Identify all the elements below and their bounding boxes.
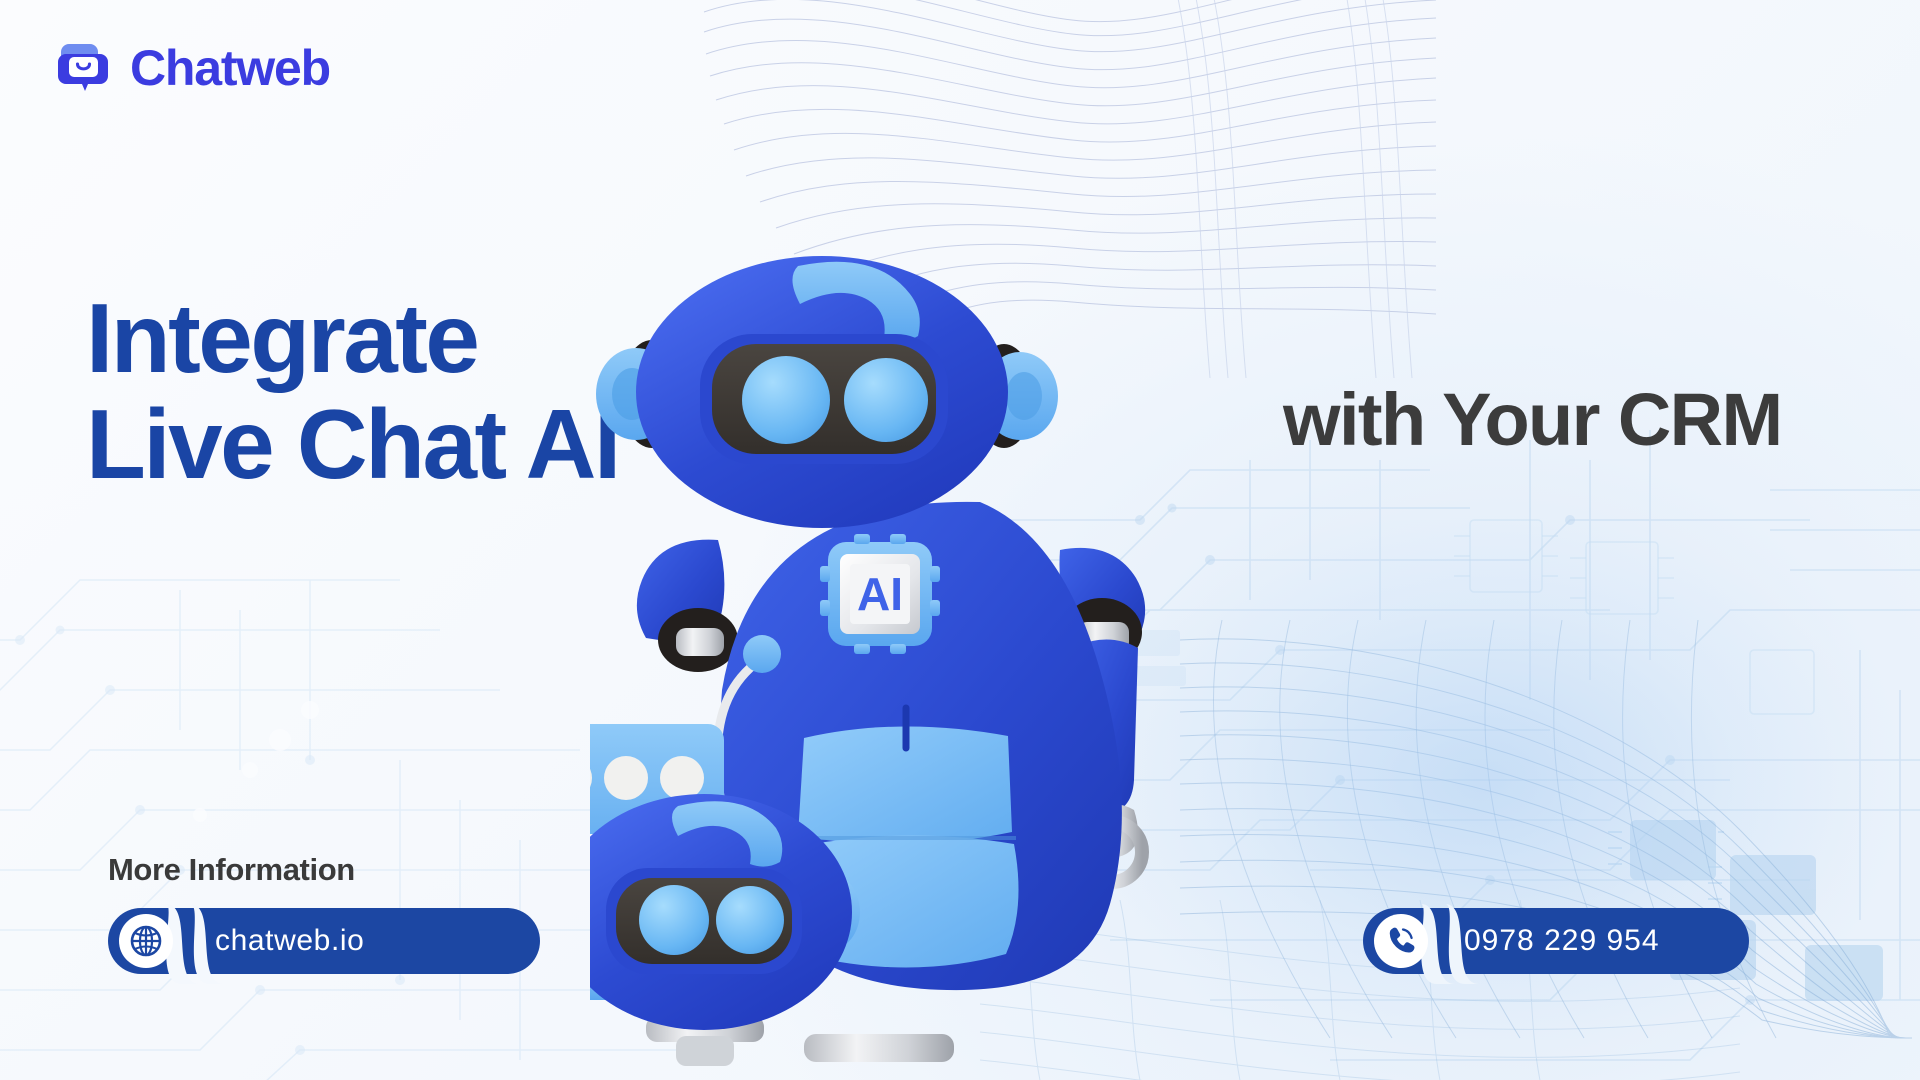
globe-icon	[119, 914, 173, 968]
robot-eye-left	[742, 356, 830, 444]
ai-robot-illustration: AI	[590, 250, 1370, 1080]
more-information-label: More Information	[108, 852, 355, 888]
phone-pill[interactable]: 0978 229 954	[1363, 908, 1749, 974]
website-pill[interactable]: chatweb.io	[108, 908, 540, 974]
typing-dot	[604, 756, 648, 800]
phone-icon	[1374, 914, 1428, 968]
small-robot-eye-right	[716, 886, 784, 954]
robot-eye-right	[844, 358, 928, 442]
robot-scene: AI	[590, 250, 1370, 1080]
typing-dot	[660, 756, 704, 800]
brand-name: Chatweb	[130, 43, 330, 93]
robot-base	[804, 1034, 954, 1062]
website-value: chatweb.io	[215, 924, 364, 958]
marketing-banner: Chatweb Integrate Live Chat AI with Your…	[0, 0, 1920, 1080]
robot-head	[596, 256, 1058, 528]
phone-value: 0978 229 954	[1464, 924, 1660, 958]
brand-logo[interactable]: Chatweb	[58, 40, 330, 96]
chat-bubble-smile-icon	[58, 40, 114, 96]
robot-left-arm	[637, 540, 738, 672]
ai-badge-text: AI	[857, 568, 903, 620]
small-robot-eye-left	[639, 885, 709, 955]
ai-chip-badge: AI	[820, 534, 940, 654]
